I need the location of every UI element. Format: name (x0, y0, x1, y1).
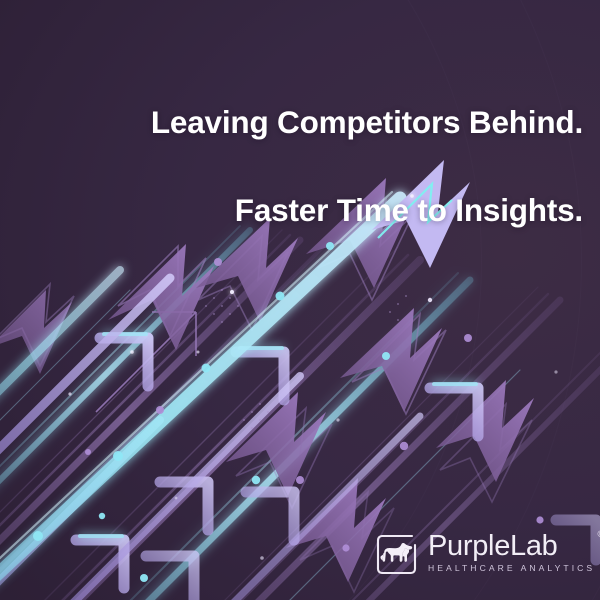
headline-line-1: Leaving Competitors Behind. (0, 100, 583, 144)
purplelab-logo[interactable]: PurpleLab ® HEALTHCARE ANALYTICS (374, 531, 586, 583)
purplelab-dog-in-square-logo-mark (374, 532, 419, 577)
logo-text-block: PurpleLab ® HEALTHCARE ANALYTICS (428, 531, 595, 573)
promo-graphic-canvas: Leaving Competitors Behind. Faster Time … (0, 0, 600, 600)
headline: Leaving Competitors Behind. Faster Time … (0, 56, 583, 276)
headline-line-2: Faster Time to Insights. (0, 188, 583, 232)
logo-wordmark: PurpleLab (428, 531, 595, 561)
logo-tagline: HEALTHCARE ANALYTICS (428, 563, 595, 573)
